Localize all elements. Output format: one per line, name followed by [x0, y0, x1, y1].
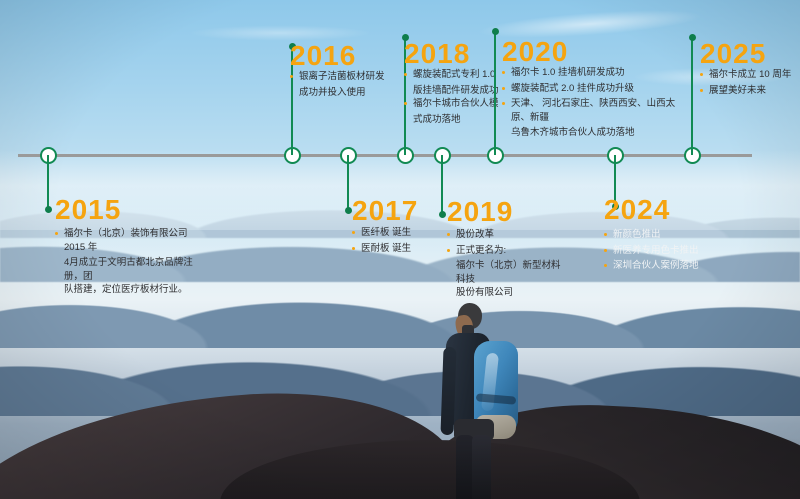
timeline-detail-2025: 福尔卡成立 10 周年展望美好未来 — [700, 68, 800, 99]
timeline-detail-2020: 福尔卡 1.0 挂墙机研发成功螺旋装配式 2.0 挂件成功升级天津、 河北石家庄… — [502, 66, 677, 140]
timeline-year-label-2015: 2015 — [55, 196, 121, 224]
timeline-bullet: 银离子洁菌板材研发 — [290, 70, 395, 84]
timeline-stem-2019 — [441, 155, 444, 216]
timeline-detail-2015: 福尔卡（北京）装饰有限公司 2015 年4月成立于文明古都北京品牌注册，团队搭建… — [55, 227, 205, 297]
timeline-bullet: 螺旋装配式专利 1.0 — [404, 68, 504, 82]
timeline-bullet: 新颜色推出 — [604, 228, 734, 242]
timeline-bullet: 正式更名为: — [447, 244, 567, 258]
timeline-bullet-continuation: 队搭建，定位医疗板材行业。 — [55, 283, 205, 297]
timeline-bullet: 展望美好未来 — [700, 84, 800, 98]
timeline-bullet-continuation: 成功并投入使用 — [290, 86, 395, 100]
timeline-bullet-continuation: 乌鲁木齐城市合伙人成功落地 — [502, 126, 677, 140]
timeline-stem-dot-2015 — [45, 206, 52, 213]
timeline-bullet: 新医养专用色卡推出 — [604, 244, 734, 258]
timeline-stem-2017 — [347, 155, 350, 212]
timeline-stem-dot-2020 — [492, 28, 499, 35]
timeline-year-label-2017: 2017 — [352, 197, 418, 225]
timeline-bullet-continuation: 4月成立于文明古都北京品牌注册，团 — [55, 256, 205, 283]
timeline-bullet: 深圳合伙人案例落地 — [604, 259, 734, 273]
timeline-bullet-continuation: 福尔卡（北京）新型材料科技 — [447, 259, 567, 286]
timeline-stem-dot-2025 — [689, 34, 696, 41]
timeline-year-label-2018: 2018 — [404, 40, 470, 68]
timeline-stem-dot-2019 — [439, 211, 446, 218]
timeline-bullet: 医纤板 诞生 — [352, 226, 452, 240]
timeline-stem-2020 — [494, 30, 497, 155]
timeline-infographic: 2015福尔卡（北京）装饰有限公司 2015 年4月成立于文明古都北京品牌注册，… — [0, 0, 800, 499]
timeline-stem-2015 — [47, 155, 50, 211]
timeline-bullet: 螺旋装配式 2.0 挂件成功升级 — [502, 82, 677, 96]
timeline-axis — [18, 154, 752, 157]
timeline-year-label-2025: 2025 — [700, 40, 766, 68]
timeline-detail-2019: 股份改革正式更名为:福尔卡（北京）新型材料科技股份有限公司 — [447, 228, 567, 300]
timeline-detail-2024: 新颜色推出新医养专用色卡推出深圳合伙人案例落地 — [604, 228, 734, 275]
timeline-bullet-continuation: 版挂墙配件研发成功 — [404, 84, 504, 98]
timeline-bullet: 医耐板 诞生 — [352, 242, 452, 256]
timeline-bullet-continuation: 式成功落地 — [404, 113, 504, 127]
timeline-detail-2017: 医纤板 诞生医耐板 诞生 — [352, 226, 452, 257]
timeline-bullet: 天津、 河北石家庄、陕西西安、山西太原、新疆 — [502, 97, 677, 124]
timeline-detail-2018: 螺旋装配式专利 1.0版挂墙配件研发成功福尔卡城市合伙人模式成功落地 — [404, 68, 504, 126]
timeline-bullet: 福尔卡成立 10 周年 — [700, 68, 800, 82]
timeline-year-label-2016: 2016 — [290, 42, 356, 70]
timeline-bullet: 福尔卡（北京）装饰有限公司 2015 年 — [55, 227, 205, 254]
timeline-stem-dot-2017 — [345, 207, 352, 214]
timeline-year-label-2024: 2024 — [604, 196, 670, 224]
timeline-stem-2025 — [691, 36, 694, 155]
timeline-year-label-2019: 2019 — [447, 198, 513, 226]
timeline-bullet: 福尔卡城市合伙人模 — [404, 97, 504, 111]
timeline-bullet: 股份改革 — [447, 228, 567, 242]
timeline-bullet: 福尔卡 1.0 挂墙机研发成功 — [502, 66, 677, 80]
timeline-detail-2016: 银离子洁菌板材研发成功并投入使用 — [290, 70, 395, 99]
timeline-year-label-2020: 2020 — [502, 38, 568, 66]
timeline-bullet-continuation: 股份有限公司 — [447, 286, 567, 300]
